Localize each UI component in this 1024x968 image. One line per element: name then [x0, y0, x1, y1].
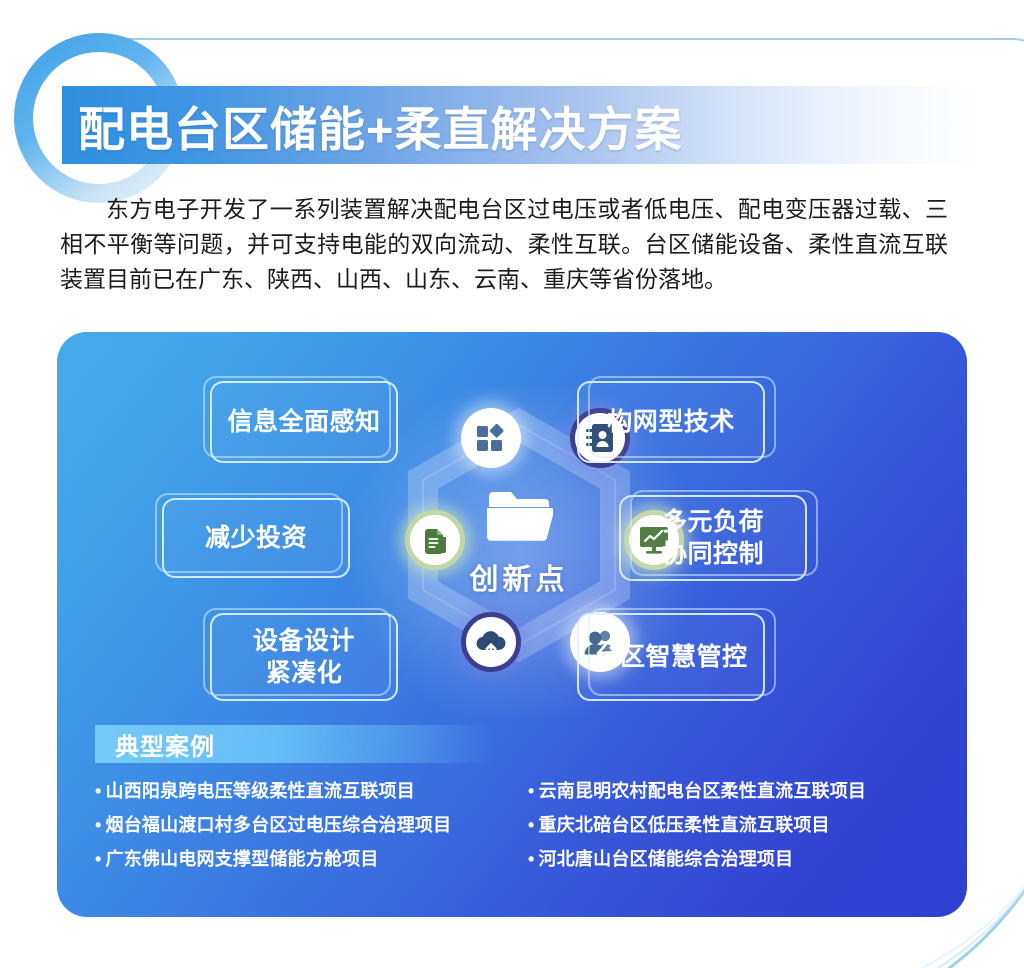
- poster-page: 配电台区储能+柔直解决方案 东方电子开发了一系列装置解决配电台区过电压或者低电压…: [0, 0, 1024, 968]
- cases-banner-title: 典型案例: [95, 727, 215, 762]
- document-glyph: [420, 524, 450, 556]
- diagram-card: 信息全面感知 减少投资 设备设计 紧凑化 构网型技术 多元负荷 协同控制 台区智…: [57, 332, 967, 917]
- title-bar: 配电台区储能+柔直解决方案: [62, 86, 982, 164]
- list-item: • 烟台福山渡口村多台区过电压综合治理项目: [95, 816, 502, 834]
- cases-banner: 典型案例: [95, 725, 495, 763]
- bullet-icon: •: [528, 850, 535, 868]
- feature-box-info[interactable]: 信息全面感知: [210, 381, 398, 463]
- feature-box-compact-line1: 设备设计: [253, 627, 355, 655]
- case-label: 广东佛山电网支撑型储能方舱项目: [106, 850, 379, 868]
- frame-mask-bottom: [0, 934, 1024, 968]
- feature-box-grid-forming[interactable]: 构网型技术: [577, 381, 765, 463]
- case-label: 河北唐山台区储能综合治理项目: [539, 850, 794, 868]
- bullet-icon: •: [95, 816, 102, 834]
- grid-blocks-glyph: [475, 422, 507, 454]
- list-item: • 山西阳泉跨电压等级柔性直流互联项目: [95, 782, 502, 800]
- list-item: • 重庆北碚台区低压柔性直流互联项目: [528, 816, 935, 834]
- list-item: • 河北唐山台区储能综合治理项目: [528, 850, 935, 868]
- feature-box-smart-management[interactable]: 台区智慧管控: [577, 613, 765, 701]
- case-label: 山西阳泉跨电压等级柔性直流互联项目: [106, 782, 415, 800]
- cloud-upload-glyph: [474, 628, 508, 656]
- feature-box-compact-line2: 紧凑化: [266, 659, 343, 687]
- feature-box-compact-label: 设备设计 紧凑化: [253, 625, 355, 689]
- feature-box-invest[interactable]: 减少投资: [162, 498, 350, 578]
- cases-column-right: • 云南昆明农村配电台区柔性直流互联项目 • 重庆北碚台区低压柔性直流互联项目 …: [528, 782, 935, 884]
- page-title: 配电台区储能+柔直解决方案: [62, 91, 682, 160]
- document-icon[interactable]: [405, 510, 465, 570]
- bullet-icon: •: [528, 782, 535, 800]
- cases-column-left: • 山西阳泉跨电压等级柔性直流互联项目 • 烟台福山渡口村多台区过电压综合治理项…: [95, 782, 502, 884]
- intro-paragraph: 东方电子开发了一系列装置解决配电台区过电压或者低电压、配电变压器过载、三相不平衡…: [60, 192, 948, 297]
- list-item: • 广东佛山电网支撑型储能方舱项目: [95, 850, 502, 868]
- feature-box-smart-management-label: 台区智慧管控: [594, 641, 747, 673]
- case-label: 重庆北碚台区低压柔性直流互联项目: [539, 816, 830, 834]
- cloud-upload-icon[interactable]: [461, 612, 521, 672]
- grid-blocks-icon[interactable]: [461, 408, 521, 468]
- folder-icon: [485, 486, 553, 544]
- feature-box-load-line1: 多元负荷: [662, 508, 764, 536]
- feature-box-load-control[interactable]: 多元负荷 协同控制: [619, 495, 807, 581]
- bullet-icon: •: [528, 816, 535, 834]
- feature-box-load-control-label: 多元负荷 协同控制: [662, 506, 764, 570]
- case-label: 云南昆明农村配电台区柔性直流互联项目: [539, 782, 867, 800]
- feature-box-invest-label: 减少投资: [205, 522, 307, 554]
- bullet-icon: •: [95, 850, 102, 868]
- list-item: • 云南昆明农村配电台区柔性直流互联项目: [528, 782, 935, 800]
- feature-box-compact[interactable]: 设备设计 紧凑化: [210, 613, 398, 701]
- feature-box-info-label: 信息全面感知: [227, 406, 380, 438]
- bullet-icon: •: [95, 782, 102, 800]
- feature-box-load-line2: 协同控制: [662, 540, 764, 568]
- cases-columns: • 山西阳泉跨电压等级柔性直流互联项目 • 烟台福山渡口村多台区过电压综合治理项…: [95, 782, 935, 884]
- case-label: 烟台福山渡口村多台区过电压综合治理项目: [106, 816, 452, 834]
- feature-box-grid-forming-label: 构网型技术: [607, 406, 735, 438]
